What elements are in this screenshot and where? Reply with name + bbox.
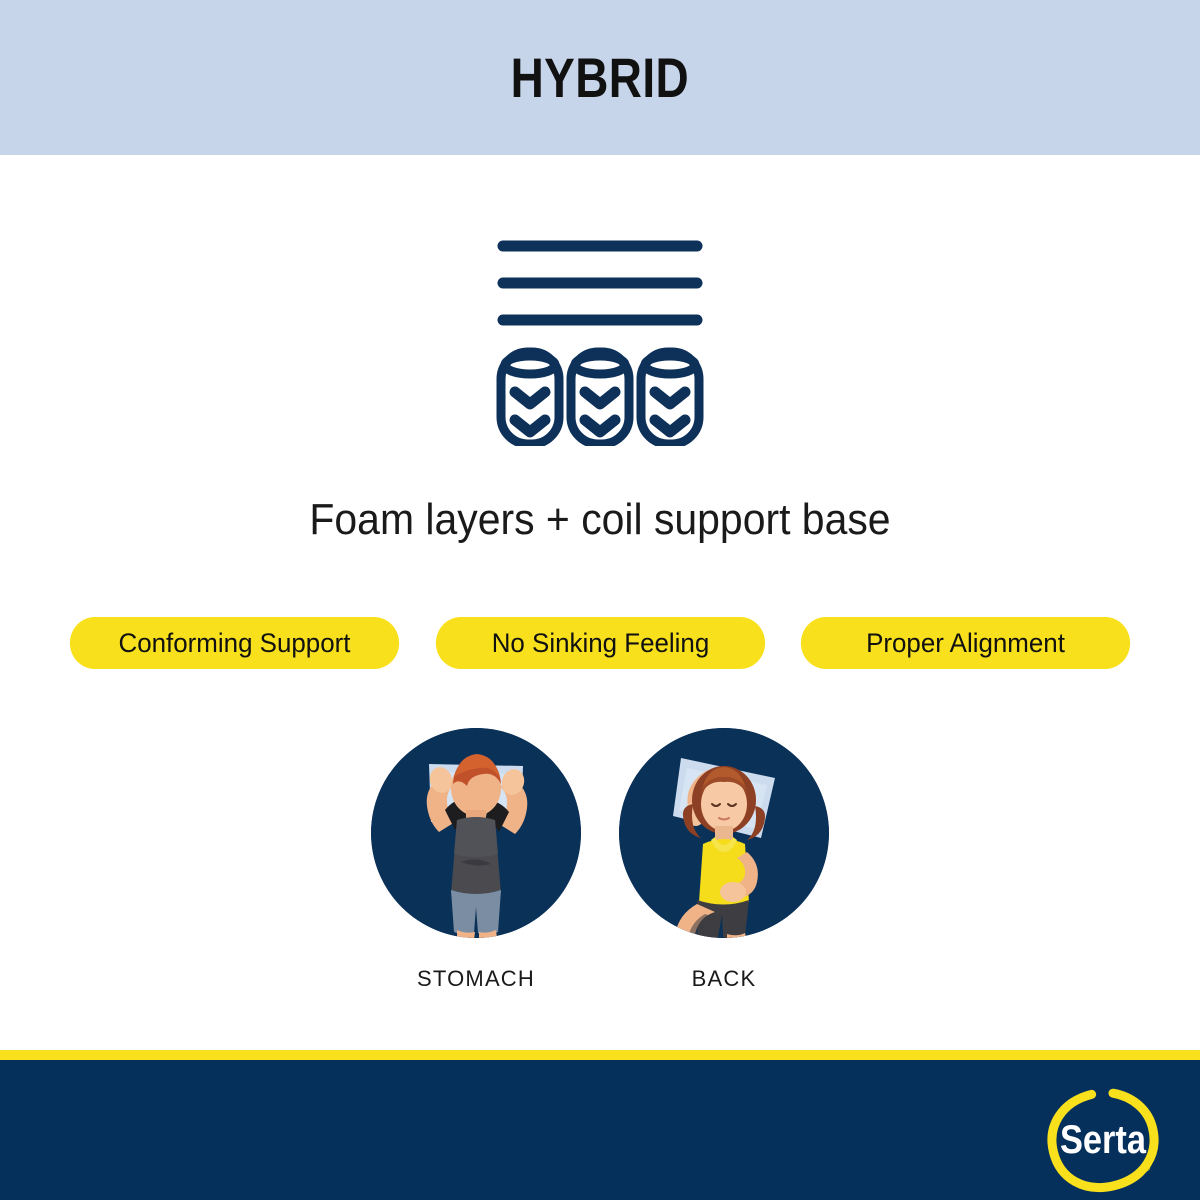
back-sleeper-circle — [619, 728, 829, 938]
infographic-page: HYBRID — [0, 0, 1200, 1200]
header-band: HYBRID — [0, 0, 1200, 155]
benefit-pill-label: Proper Alignment — [866, 628, 1065, 659]
sleep-position-stomach[interactable]: STOMACH — [371, 728, 581, 992]
registered-trademark-icon: ® — [1144, 1163, 1151, 1173]
benefit-pill-no-sinking-feeling[interactable]: No Sinking Feeling — [435, 617, 764, 669]
stomach-sleeper-illustration — [371, 728, 581, 938]
subtitle-text: Foam layers + coil support base — [42, 495, 1158, 545]
benefit-pill-label: Conforming Support — [119, 628, 351, 659]
serta-logo[interactable]: Serta ® — [1044, 1085, 1162, 1195]
page-title: HYBRID — [511, 45, 690, 110]
stomach-sleeper-circle — [371, 728, 581, 938]
footer-accent-stripe — [0, 1050, 1200, 1060]
sleep-position-back[interactable]: BACK — [619, 728, 829, 992]
sleep-positions-row: STOMACH — [0, 728, 1200, 992]
sleep-position-label: BACK — [692, 966, 757, 992]
sleep-position-label: STOMACH — [417, 966, 535, 992]
serta-wordmark: Serta — [1060, 1117, 1146, 1162]
icon-container — [0, 218, 1200, 453]
benefit-pill-proper-alignment[interactable]: Proper Alignment — [801, 617, 1130, 669]
hybrid-mattress-icon — [490, 226, 710, 446]
benefit-pill-row: Conforming Support No Sinking Feeling Pr… — [63, 617, 1137, 669]
benefit-pill-conforming-support[interactable]: Conforming Support — [70, 617, 399, 669]
footer-band — [0, 1060, 1200, 1200]
benefit-pill-label: No Sinking Feeling — [491, 628, 709, 659]
back-sleeper-illustration — [619, 728, 829, 938]
